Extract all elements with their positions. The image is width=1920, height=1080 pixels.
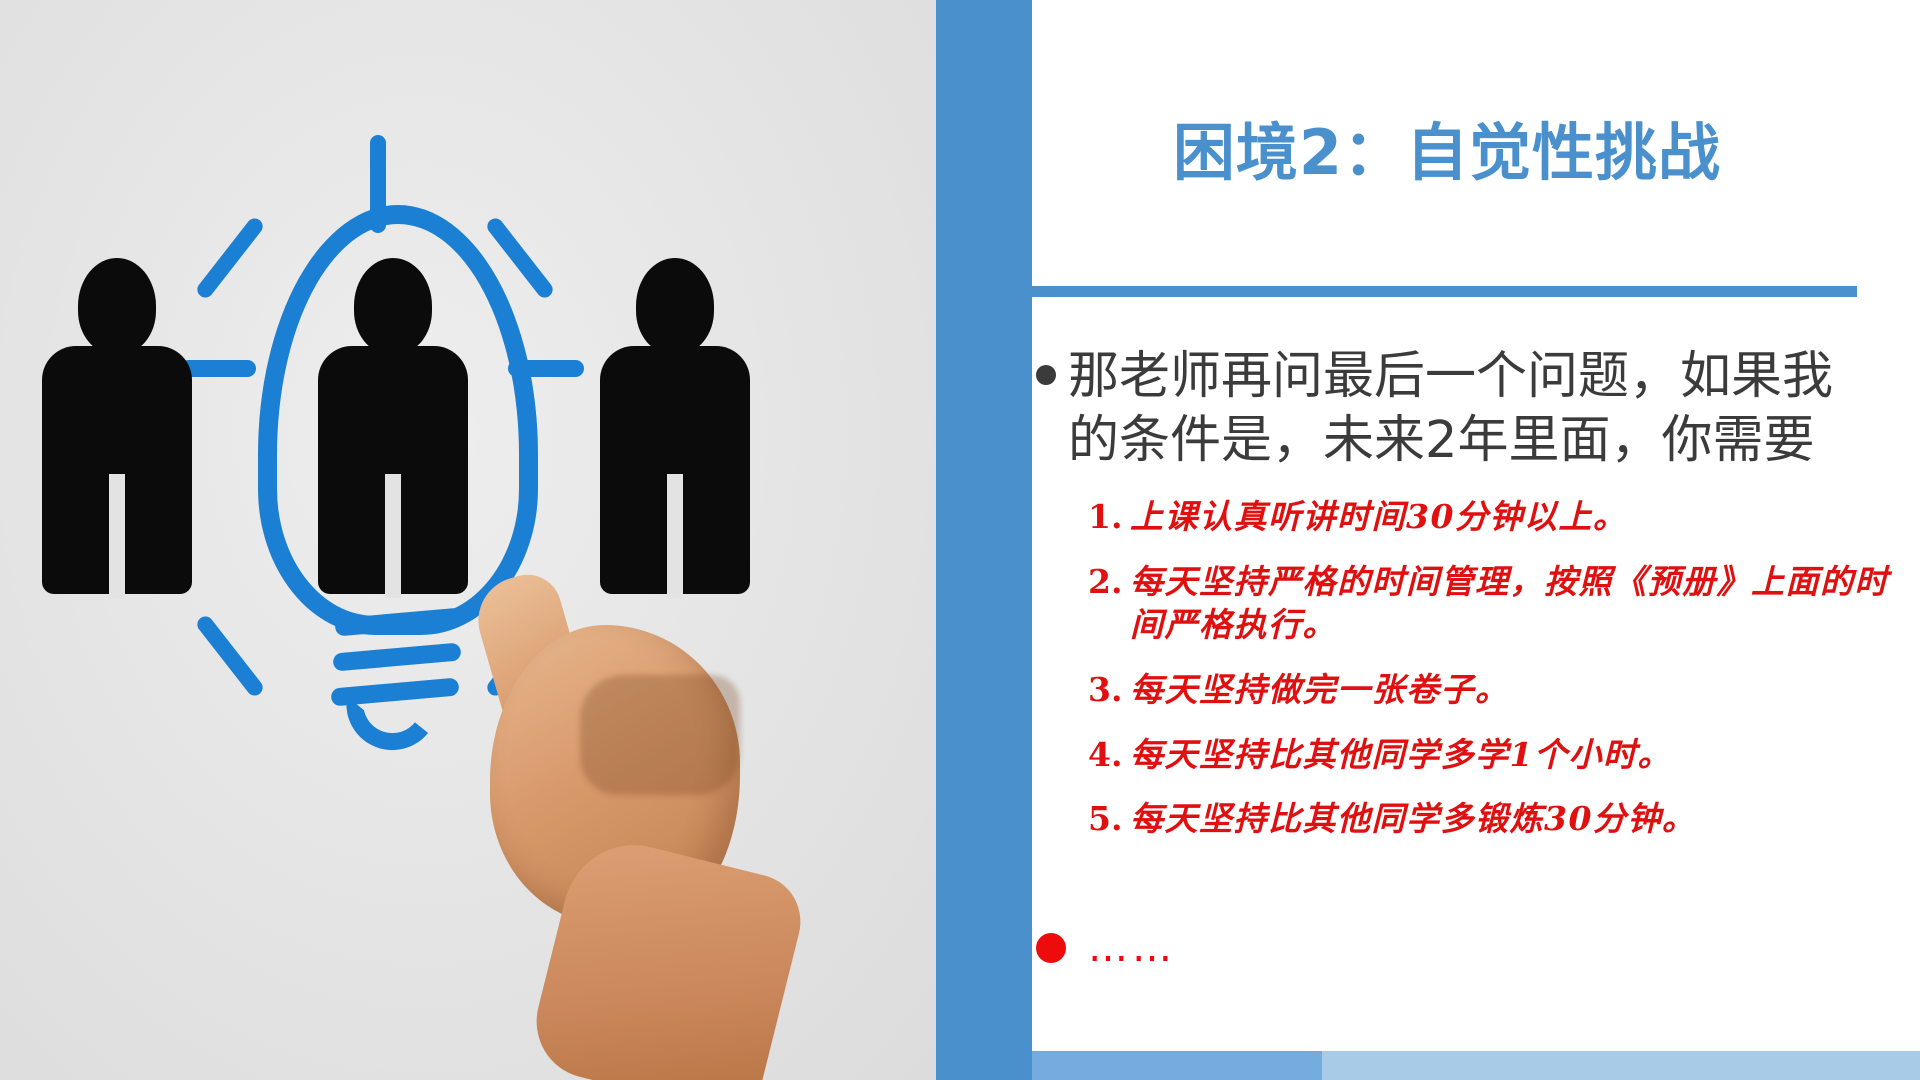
list-item: 2. 每天坚持严格的时间管理，按照《预册》上面的时间严格执行。 bbox=[1088, 561, 1918, 647]
list-item-number: 3. bbox=[1088, 669, 1122, 712]
content-panel: 困境2：自觉性挑战 那老师再问最后一个问题，如果我的条件是，未来2年里面，你需要… bbox=[1032, 0, 1920, 1080]
lead-bullet-icon bbox=[1036, 365, 1056, 385]
person-head bbox=[354, 258, 432, 354]
vertical-accent-band bbox=[936, 0, 1032, 1080]
slide: 困境2：自觉性挑战 那老师再问最后一个问题，如果我的条件是，未来2年里面，你需要… bbox=[0, 0, 1920, 1080]
list-item: 1. 上课认真听讲时间30分钟以上。 bbox=[1088, 496, 1918, 539]
list-item-text: 每天坚持做完一张卷子。 bbox=[1130, 670, 1510, 709]
list-item-number: 5. bbox=[1088, 798, 1122, 841]
lead-paragraph: 那老师再问最后一个问题，如果我的条件是，未来2年里面，你需要 bbox=[1036, 345, 1896, 473]
list-item: 5. 每天坚持比其他同学多锻炼30分钟。 bbox=[1088, 798, 1918, 841]
person-silhouette-right bbox=[600, 258, 750, 588]
person-silhouette-center bbox=[318, 258, 468, 588]
list-item-text: 每天坚持比其他同学多锻炼30分钟。 bbox=[1130, 799, 1696, 838]
lead-paragraph-text: 那老师再问最后一个问题，如果我的条件是，未来2年里面，你需要 bbox=[1068, 345, 1874, 473]
person-head bbox=[636, 258, 714, 354]
list-item-text: 每天坚持比其他同学多学1个小时。 bbox=[1130, 735, 1672, 774]
person-silhouette-left bbox=[42, 258, 192, 588]
list-item-number: 1. bbox=[1088, 496, 1122, 539]
list-item-number: 4. bbox=[1088, 734, 1122, 777]
trailing-ellipsis-text: …… bbox=[1088, 928, 1176, 968]
person-head bbox=[78, 258, 156, 354]
footer-bar-left bbox=[1032, 1051, 1322, 1080]
list-item-text: 上课认真听讲时间30分钟以上。 bbox=[1130, 497, 1627, 536]
list-item-number: 2. bbox=[1088, 561, 1122, 604]
list-item: 4. 每天坚持比其他同学多学1个小时。 bbox=[1088, 734, 1918, 777]
red-numbered-list: 1. 上课认真听讲时间30分钟以上。 2. 每天坚持严格的时间管理，按照《预册》… bbox=[1088, 496, 1918, 863]
illustration-panel bbox=[0, 0, 936, 1080]
page-title: 困境2：自觉性挑战 bbox=[1032, 118, 1862, 187]
list-item-text: 每天坚持严格的时间管理，按照《预册》上面的时间严格执行。 bbox=[1130, 562, 1889, 644]
hand-drawing bbox=[430, 555, 780, 1080]
hand-knuckles bbox=[580, 675, 740, 795]
trailing-bullet-row: …… bbox=[1036, 928, 1176, 968]
person-leg-gap bbox=[385, 474, 401, 598]
title-underline-rule bbox=[1032, 286, 1857, 297]
person-leg-gap bbox=[109, 474, 125, 598]
list-item: 3. 每天坚持做完一张卷子。 bbox=[1088, 669, 1918, 712]
trailing-bullet-icon bbox=[1036, 933, 1066, 963]
footer-bar-right bbox=[1322, 1051, 1920, 1080]
